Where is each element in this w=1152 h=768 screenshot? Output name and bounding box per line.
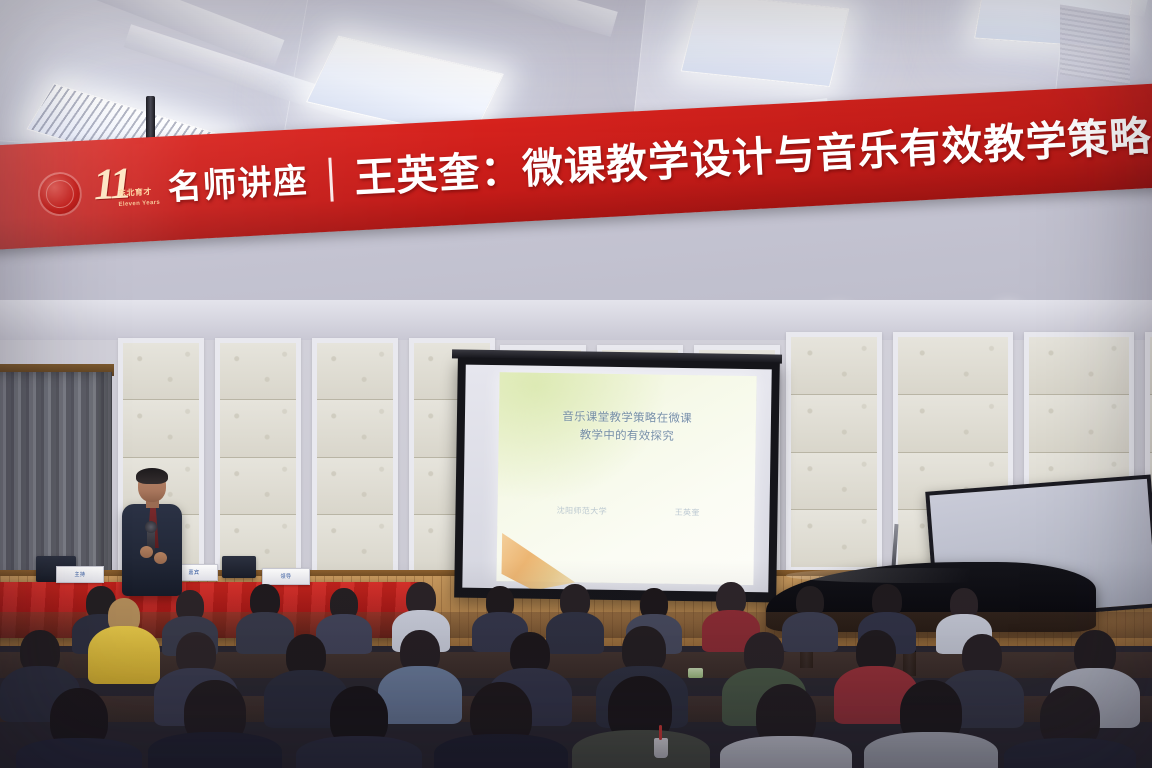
audience-body [148,732,282,768]
audience-body-yellow-hoodie [88,626,160,684]
audience-body [572,730,710,768]
audience-body [434,734,568,768]
slide-presenter: 王英奎 [675,507,700,518]
audience-body [864,732,998,768]
acoustic-panel [312,338,398,576]
banner-divider [328,158,333,202]
audience-body [546,612,604,654]
paper-cup [654,738,668,758]
audience-body [378,666,462,724]
audience-body [720,736,852,768]
audience-body [782,612,838,652]
acoustic-panel [215,338,301,576]
audience-body [296,736,422,768]
slide-title-line2: 教学中的有效探究 [514,425,740,446]
slide-affiliation: 沈阳师范大学 [557,505,608,517]
ceiling-light-panel [681,0,850,87]
audience-body [16,738,142,768]
photo-scene: 11 东北育才 Eleven Years 名师讲座 王英奎：微课教学设计与音乐有… [0,0,1152,768]
slide-byline: 沈阳师范大学 王英奎 [523,504,734,518]
banner-series-label: 名师讲座 [167,164,309,205]
ceiling-vent [1060,4,1130,85]
acoustic-panel [786,332,882,572]
anniversary-sub-en: Eleven Years [118,200,160,208]
audience-body [1004,738,1136,768]
seal-logo-icon [37,171,83,217]
window-curtain [0,372,112,584]
phone-screen [688,668,703,678]
banner-main-title: 王英奎：微课教学设计与音乐有效教学策略探究 [353,111,1152,199]
slide-title: 音乐课堂教学策略在微课 教学中的有效探究 [514,408,741,446]
audience-body [236,612,294,654]
presentation-slide: 音乐课堂教学策略在微课 教学中的有效探究 沈阳师范大学 王英奎 [496,372,756,586]
anniversary-logo: 11 东北育才 Eleven Years [92,160,157,221]
audience [0,560,1152,768]
anniversary-sub-cn: 东北育才 [118,186,153,199]
